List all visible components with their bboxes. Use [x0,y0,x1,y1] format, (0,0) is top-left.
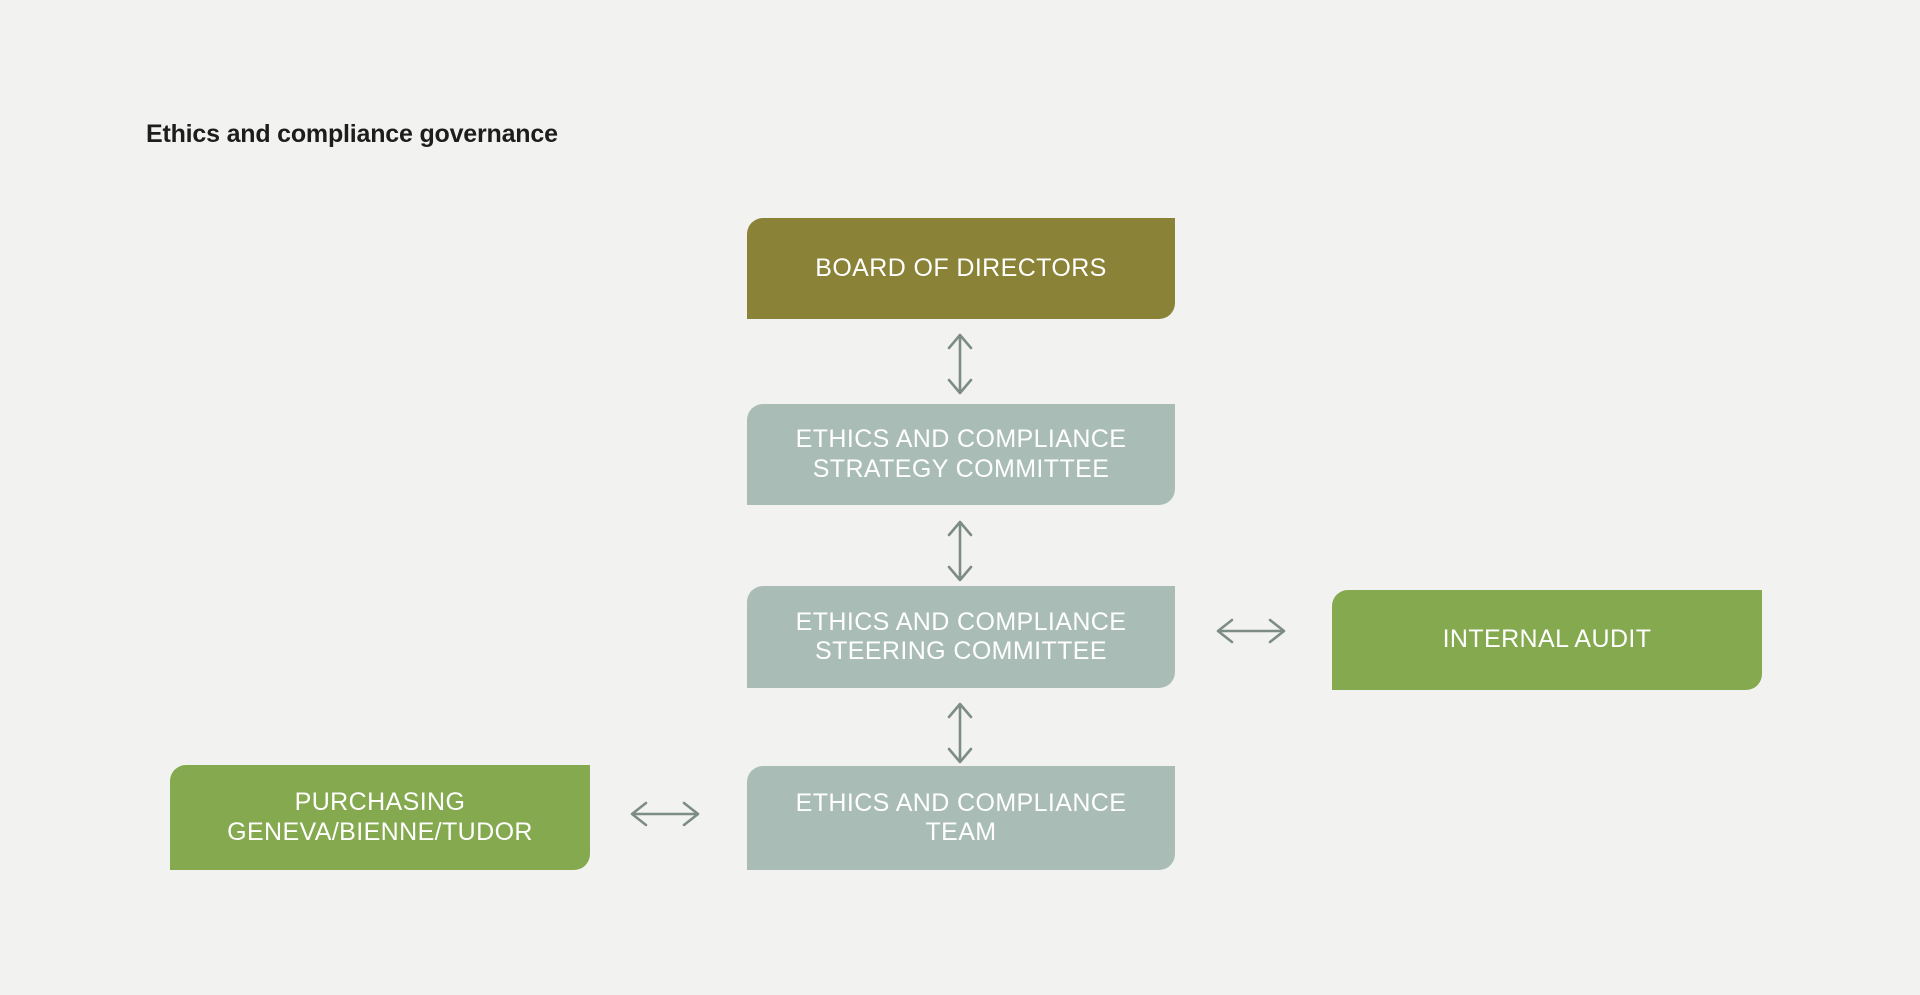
node-board-of-directors[interactable]: BOARD OF DIRECTORS [747,218,1175,319]
node-purchasing-label: PURCHASING GENEVA/BIENNE/TUDOR [184,788,576,847]
node-board-of-directors-label: BOARD OF DIRECTORS [761,254,1161,284]
node-ethics-compliance-team[interactable]: ETHICS AND COMPLIANCE TEAM [747,766,1175,870]
node-steering-committee[interactable]: ETHICS AND COMPLIANCE STEERING COMMITTEE [747,586,1175,688]
connector-steering-to-audit-arrow [1213,612,1289,650]
node-purchasing[interactable]: PURCHASING GENEVA/BIENNE/TUDOR [170,765,590,870]
node-internal-audit-label: INTERNAL AUDIT [1346,625,1748,655]
connector-steering-to-team-arrow [941,700,979,766]
connector-purchasing-to-team-arrow [627,795,703,833]
page-title: Ethics and compliance governance [146,120,558,149]
connector-strategy-to-steering-arrow [941,518,979,584]
connector-board-to-strategy-arrow [941,331,979,397]
diagram-canvas: Ethics and compliance governance BOARD O… [0,0,1920,995]
node-strategy-committee[interactable]: ETHICS AND COMPLIANCE STRATEGY COMMITTEE [747,404,1175,505]
node-ethics-compliance-team-label: ETHICS AND COMPLIANCE TEAM [761,789,1161,848]
node-internal-audit[interactable]: INTERNAL AUDIT [1332,590,1762,690]
node-steering-committee-label: ETHICS AND COMPLIANCE STEERING COMMITTEE [761,608,1161,667]
node-strategy-committee-label: ETHICS AND COMPLIANCE STRATEGY COMMITTEE [761,425,1161,484]
